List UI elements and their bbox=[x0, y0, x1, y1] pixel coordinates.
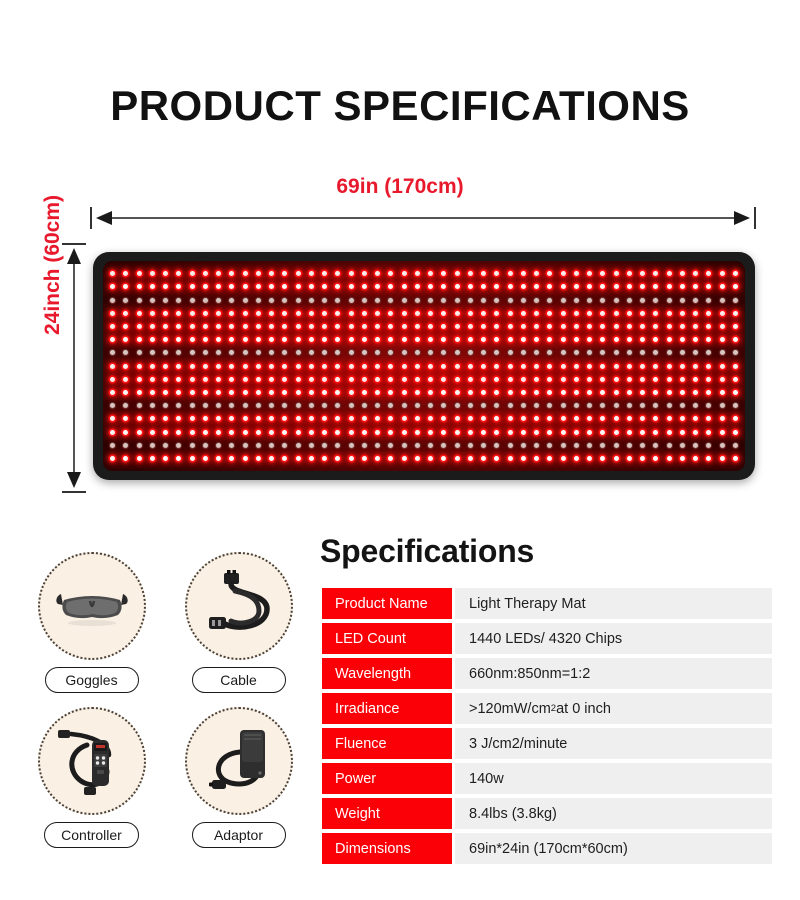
led-red-660nm bbox=[720, 430, 725, 435]
led-red-660nm bbox=[720, 324, 725, 329]
led-row bbox=[110, 373, 738, 386]
led-red-660nm bbox=[587, 337, 592, 342]
specifications-heading: Specifications bbox=[320, 533, 534, 570]
led-red-660nm bbox=[494, 337, 499, 342]
led-nir-850nm bbox=[494, 443, 499, 448]
led-red-660nm bbox=[163, 430, 168, 435]
led-nir-850nm bbox=[282, 350, 287, 355]
led-nir-850nm bbox=[335, 443, 340, 448]
led-red-660nm bbox=[322, 364, 327, 369]
led-red-660nm bbox=[587, 430, 592, 435]
specification-value: 140w bbox=[455, 763, 772, 794]
led-red-660nm bbox=[163, 284, 168, 289]
led-red-660nm bbox=[322, 284, 327, 289]
led-red-660nm bbox=[614, 456, 619, 461]
led-red-660nm bbox=[680, 324, 685, 329]
accessory-item-controller[interactable]: Controller bbox=[22, 707, 161, 848]
led-nir-850nm bbox=[667, 403, 672, 408]
led-nir-850nm bbox=[243, 350, 248, 355]
led-red-660nm bbox=[402, 311, 407, 316]
led-red-660nm bbox=[402, 364, 407, 369]
led-nir-850nm bbox=[282, 443, 287, 448]
led-red-660nm bbox=[561, 337, 566, 342]
led-red-660nm bbox=[547, 324, 552, 329]
led-red-660nm bbox=[256, 377, 261, 382]
led-red-660nm bbox=[706, 311, 711, 316]
led-red-660nm bbox=[574, 456, 579, 461]
led-nir-850nm bbox=[653, 350, 658, 355]
led-red-660nm bbox=[243, 456, 248, 461]
led-red-660nm bbox=[587, 390, 592, 395]
led-red-660nm bbox=[494, 377, 499, 382]
led-nir-850nm bbox=[706, 350, 711, 355]
led-nir-850nm bbox=[547, 443, 552, 448]
led-red-660nm bbox=[349, 430, 354, 435]
led-nir-850nm bbox=[428, 298, 433, 303]
accessory-label: Adaptor bbox=[192, 822, 286, 848]
led-red-660nm bbox=[415, 377, 420, 382]
led-red-660nm bbox=[667, 311, 672, 316]
led-red-660nm bbox=[481, 390, 486, 395]
led-nir-850nm bbox=[733, 403, 738, 408]
led-red-660nm bbox=[309, 284, 314, 289]
led-red-660nm bbox=[296, 416, 301, 421]
led-red-660nm bbox=[680, 284, 685, 289]
led-red-660nm bbox=[176, 284, 181, 289]
led-red-660nm bbox=[229, 416, 234, 421]
led-red-660nm bbox=[627, 456, 632, 461]
led-red-660nm bbox=[600, 430, 605, 435]
specification-label: Irradiance bbox=[322, 693, 452, 724]
led-nir-850nm bbox=[534, 443, 539, 448]
led-nir-850nm bbox=[640, 443, 645, 448]
led-nir-850nm bbox=[614, 403, 619, 408]
led-red-660nm bbox=[706, 324, 711, 329]
led-red-660nm bbox=[693, 284, 698, 289]
led-nir-850nm bbox=[455, 443, 460, 448]
led-red-660nm bbox=[229, 390, 234, 395]
led-red-660nm bbox=[269, 271, 274, 276]
led-red-660nm bbox=[322, 311, 327, 316]
led-nir-850nm bbox=[508, 443, 513, 448]
led-red-660nm bbox=[309, 377, 314, 382]
led-red-660nm bbox=[375, 416, 380, 421]
led-red-660nm bbox=[627, 377, 632, 382]
led-red-660nm bbox=[667, 364, 672, 369]
led-nir-850nm bbox=[547, 350, 552, 355]
led-red-660nm bbox=[534, 390, 539, 395]
led-nir-850nm bbox=[481, 350, 486, 355]
width-dimension-arrow bbox=[90, 207, 756, 229]
led-red-660nm bbox=[110, 324, 115, 329]
led-red-660nm bbox=[587, 271, 592, 276]
led-red-660nm bbox=[309, 337, 314, 342]
led-red-660nm bbox=[521, 337, 526, 342]
led-red-660nm bbox=[428, 324, 433, 329]
specification-value: >120mW/cm2 at 0 inch bbox=[455, 693, 772, 724]
led-red-660nm bbox=[243, 390, 248, 395]
led-red-660nm bbox=[508, 271, 513, 276]
led-nir-850nm bbox=[441, 350, 446, 355]
led-red-660nm bbox=[428, 377, 433, 382]
led-red-660nm bbox=[587, 364, 592, 369]
led-red-660nm bbox=[216, 416, 221, 421]
led-nir-850nm bbox=[229, 443, 234, 448]
led-nir-850nm bbox=[468, 403, 473, 408]
led-red-660nm bbox=[706, 456, 711, 461]
accessory-item-goggles[interactable]: Goggles bbox=[22, 552, 161, 693]
led-nir-850nm bbox=[190, 403, 195, 408]
led-red-660nm bbox=[720, 271, 725, 276]
led-red-660nm bbox=[137, 377, 142, 382]
led-nir-850nm bbox=[653, 298, 658, 303]
led-nir-850nm bbox=[296, 443, 301, 448]
arrow-up-icon bbox=[67, 248, 81, 264]
handheld-controller-icon bbox=[51, 723, 133, 799]
led-red-660nm bbox=[561, 416, 566, 421]
led-red-660nm bbox=[375, 430, 380, 435]
led-red-660nm bbox=[137, 271, 142, 276]
led-red-660nm bbox=[335, 416, 340, 421]
led-nir-850nm bbox=[587, 298, 592, 303]
led-nir-850nm bbox=[441, 403, 446, 408]
led-red-660nm bbox=[282, 271, 287, 276]
accessory-item-cable[interactable]: Cable bbox=[169, 552, 308, 693]
led-red-660nm bbox=[733, 311, 738, 316]
led-nir-850nm bbox=[349, 350, 354, 355]
led-red-660nm bbox=[335, 311, 340, 316]
led-nir-850nm bbox=[653, 443, 658, 448]
led-red-660nm bbox=[640, 416, 645, 421]
led-nir-850nm bbox=[176, 350, 181, 355]
led-nir-850nm bbox=[402, 403, 407, 408]
led-red-660nm bbox=[375, 456, 380, 461]
led-red-660nm bbox=[521, 390, 526, 395]
led-red-660nm bbox=[110, 271, 115, 276]
led-red-660nm bbox=[547, 430, 552, 435]
led-nir-850nm bbox=[163, 403, 168, 408]
led-nir-850nm bbox=[653, 403, 658, 408]
led-red-660nm bbox=[216, 390, 221, 395]
led-red-660nm bbox=[123, 324, 128, 329]
led-red-660nm bbox=[640, 284, 645, 289]
led-nir-850nm bbox=[203, 298, 208, 303]
led-red-660nm bbox=[269, 430, 274, 435]
led-red-660nm bbox=[733, 324, 738, 329]
led-red-660nm bbox=[176, 337, 181, 342]
led-red-660nm bbox=[203, 390, 208, 395]
led-red-660nm bbox=[203, 416, 208, 421]
led-red-660nm bbox=[521, 430, 526, 435]
led-red-660nm bbox=[693, 430, 698, 435]
led-nir-850nm bbox=[481, 443, 486, 448]
accessory-item-adaptor[interactable]: Adaptor bbox=[169, 707, 308, 848]
led-red-660nm bbox=[402, 377, 407, 382]
led-red-660nm bbox=[667, 430, 672, 435]
safety-goggles-icon bbox=[52, 583, 132, 629]
specification-value: 8.4lbs (3.8kg) bbox=[455, 798, 772, 829]
led-red-660nm bbox=[680, 377, 685, 382]
led-red-660nm bbox=[441, 311, 446, 316]
led-red-660nm bbox=[680, 390, 685, 395]
led-nir-850nm bbox=[667, 298, 672, 303]
led-red-660nm bbox=[388, 337, 393, 342]
led-nir-850nm bbox=[216, 403, 221, 408]
led-red-660nm bbox=[110, 390, 115, 395]
led-red-660nm bbox=[494, 324, 499, 329]
led-red-660nm bbox=[256, 271, 261, 276]
led-red-660nm bbox=[388, 364, 393, 369]
led-nir-850nm bbox=[282, 298, 287, 303]
led-red-660nm bbox=[733, 337, 738, 342]
led-row bbox=[110, 307, 738, 320]
led-red-660nm bbox=[455, 456, 460, 461]
led-red-660nm bbox=[110, 364, 115, 369]
led-red-660nm bbox=[481, 364, 486, 369]
led-red-660nm bbox=[574, 377, 579, 382]
led-nir-850nm bbox=[508, 350, 513, 355]
led-nir-850nm bbox=[680, 298, 685, 303]
led-red-660nm bbox=[600, 456, 605, 461]
arrow-down-icon bbox=[67, 472, 81, 488]
led-red-660nm bbox=[282, 284, 287, 289]
led-nir-850nm bbox=[428, 403, 433, 408]
led-red-660nm bbox=[150, 430, 155, 435]
led-red-660nm bbox=[335, 364, 340, 369]
led-nir-850nm bbox=[229, 403, 234, 408]
led-red-660nm bbox=[362, 324, 367, 329]
led-nir-850nm bbox=[163, 443, 168, 448]
specification-value: 660nm:850nm=1:2 bbox=[455, 658, 772, 689]
led-red-660nm bbox=[349, 311, 354, 316]
led-red-660nm bbox=[150, 284, 155, 289]
led-red-660nm bbox=[481, 324, 486, 329]
led-red-660nm bbox=[428, 364, 433, 369]
led-nir-850nm bbox=[203, 350, 208, 355]
led-red-660nm bbox=[547, 271, 552, 276]
led-red-660nm bbox=[640, 271, 645, 276]
specification-row: Fluence3 J/cm2/minute bbox=[322, 728, 772, 759]
led-red-660nm bbox=[720, 416, 725, 421]
led-red-660nm bbox=[428, 284, 433, 289]
led-red-660nm bbox=[269, 337, 274, 342]
led-red-660nm bbox=[508, 324, 513, 329]
led-red-660nm bbox=[362, 311, 367, 316]
specification-label: Product Name bbox=[322, 588, 452, 619]
led-red-660nm bbox=[521, 311, 526, 316]
led-red-660nm bbox=[123, 337, 128, 342]
led-red-660nm bbox=[123, 430, 128, 435]
led-red-660nm bbox=[110, 311, 115, 316]
led-red-660nm bbox=[415, 337, 420, 342]
led-red-660nm bbox=[614, 364, 619, 369]
led-nir-850nm bbox=[402, 298, 407, 303]
led-nir-850nm bbox=[733, 443, 738, 448]
led-red-660nm bbox=[137, 390, 142, 395]
led-nir-850nm bbox=[733, 350, 738, 355]
led-red-660nm bbox=[441, 284, 446, 289]
led-red-660nm bbox=[203, 337, 208, 342]
led-red-660nm bbox=[574, 416, 579, 421]
led-red-660nm bbox=[441, 324, 446, 329]
led-nir-850nm bbox=[123, 403, 128, 408]
led-red-660nm bbox=[349, 324, 354, 329]
specification-value: 3 J/cm2/minute bbox=[455, 728, 772, 759]
led-red-660nm bbox=[163, 377, 168, 382]
specification-row: Weight8.4lbs (3.8kg) bbox=[322, 798, 772, 829]
led-red-660nm bbox=[494, 456, 499, 461]
page-title: PRODUCT SPECIFICATIONS bbox=[0, 82, 800, 130]
led-red-660nm bbox=[176, 390, 181, 395]
led-red-660nm bbox=[243, 284, 248, 289]
led-red-660nm bbox=[203, 284, 208, 289]
led-red-660nm bbox=[653, 364, 658, 369]
led-red-660nm bbox=[256, 456, 261, 461]
led-red-660nm bbox=[653, 284, 658, 289]
led-red-660nm bbox=[508, 364, 513, 369]
led-red-660nm bbox=[190, 430, 195, 435]
led-red-660nm bbox=[282, 324, 287, 329]
led-red-660nm bbox=[269, 284, 274, 289]
led-red-660nm bbox=[322, 430, 327, 435]
led-nir-850nm bbox=[680, 350, 685, 355]
height-dimension-tick-bottom bbox=[62, 491, 86, 493]
led-nir-850nm bbox=[362, 403, 367, 408]
led-red-660nm bbox=[561, 390, 566, 395]
led-red-660nm bbox=[547, 364, 552, 369]
led-red-660nm bbox=[574, 324, 579, 329]
led-red-660nm bbox=[653, 390, 658, 395]
led-red-660nm bbox=[667, 284, 672, 289]
led-red-660nm bbox=[163, 416, 168, 421]
led-nir-850nm bbox=[137, 350, 142, 355]
led-nir-850nm bbox=[322, 350, 327, 355]
led-row bbox=[110, 399, 738, 412]
led-red-660nm bbox=[706, 271, 711, 276]
led-nir-850nm bbox=[534, 403, 539, 408]
led-nir-850nm bbox=[640, 403, 645, 408]
led-red-660nm bbox=[176, 311, 181, 316]
led-red-660nm bbox=[388, 377, 393, 382]
led-red-660nm bbox=[176, 430, 181, 435]
led-nir-850nm bbox=[587, 350, 592, 355]
led-red-660nm bbox=[693, 311, 698, 316]
led-nir-850nm bbox=[190, 443, 195, 448]
led-red-660nm bbox=[123, 311, 128, 316]
led-red-660nm bbox=[640, 377, 645, 382]
led-red-660nm bbox=[627, 324, 632, 329]
led-red-660nm bbox=[720, 311, 725, 316]
led-red-660nm bbox=[600, 377, 605, 382]
led-nir-850nm bbox=[455, 350, 460, 355]
led-red-660nm bbox=[547, 390, 552, 395]
led-red-660nm bbox=[693, 364, 698, 369]
width-dimension-label: 69in (170cm) bbox=[0, 175, 800, 199]
led-red-660nm bbox=[733, 456, 738, 461]
led-red-660nm bbox=[521, 364, 526, 369]
led-nir-850nm bbox=[547, 298, 552, 303]
led-red-660nm bbox=[110, 456, 115, 461]
specification-row: Product NameLight Therapy Mat bbox=[322, 588, 772, 619]
led-red-660nm bbox=[296, 271, 301, 276]
led-red-660nm bbox=[282, 377, 287, 382]
led-nir-850nm bbox=[375, 298, 380, 303]
led-nir-850nm bbox=[600, 403, 605, 408]
led-red-660nm bbox=[521, 377, 526, 382]
led-red-660nm bbox=[468, 456, 473, 461]
led-red-660nm bbox=[349, 390, 354, 395]
led-nir-850nm bbox=[388, 350, 393, 355]
led-nir-850nm bbox=[521, 350, 526, 355]
led-red-660nm bbox=[720, 377, 725, 382]
led-nir-850nm bbox=[494, 403, 499, 408]
led-nir-850nm bbox=[190, 350, 195, 355]
led-red-660nm bbox=[203, 311, 208, 316]
led-nir-850nm bbox=[667, 350, 672, 355]
led-red-660nm bbox=[733, 377, 738, 382]
led-nir-850nm bbox=[137, 298, 142, 303]
led-red-660nm bbox=[229, 377, 234, 382]
led-red-660nm bbox=[534, 284, 539, 289]
height-dimension-line bbox=[73, 251, 75, 485]
led-nir-850nm bbox=[706, 298, 711, 303]
led-red-660nm bbox=[269, 377, 274, 382]
led-red-660nm bbox=[693, 271, 698, 276]
led-red-660nm bbox=[282, 337, 287, 342]
led-red-660nm bbox=[216, 377, 221, 382]
led-nir-850nm bbox=[176, 443, 181, 448]
led-red-660nm bbox=[614, 284, 619, 289]
led-red-660nm bbox=[494, 311, 499, 316]
led-red-660nm bbox=[521, 416, 526, 421]
led-red-660nm bbox=[203, 430, 208, 435]
led-nir-850nm bbox=[508, 403, 513, 408]
led-nir-850nm bbox=[216, 443, 221, 448]
led-red-660nm bbox=[468, 377, 473, 382]
led-red-660nm bbox=[574, 311, 579, 316]
accessories-grid: Goggles Cable Controller bbox=[22, 552, 308, 848]
led-red-660nm bbox=[163, 364, 168, 369]
led-red-660nm bbox=[309, 271, 314, 276]
accessory-label: Controller bbox=[44, 822, 139, 848]
led-red-660nm bbox=[706, 337, 711, 342]
led-nir-850nm bbox=[110, 350, 115, 355]
specification-label: Dimensions bbox=[322, 833, 452, 864]
led-red-660nm bbox=[190, 377, 195, 382]
led-red-660nm bbox=[150, 416, 155, 421]
led-red-660nm bbox=[693, 324, 698, 329]
led-red-660nm bbox=[534, 416, 539, 421]
led-nir-850nm bbox=[693, 350, 698, 355]
led-red-660nm bbox=[693, 337, 698, 342]
led-red-660nm bbox=[627, 364, 632, 369]
led-red-660nm bbox=[693, 416, 698, 421]
led-red-660nm bbox=[455, 324, 460, 329]
led-red-660nm bbox=[322, 416, 327, 421]
led-red-660nm bbox=[110, 416, 115, 421]
led-red-660nm bbox=[402, 416, 407, 421]
led-red-660nm bbox=[614, 337, 619, 342]
led-red-660nm bbox=[706, 284, 711, 289]
width-dimension-tick-right bbox=[754, 207, 756, 229]
led-red-660nm bbox=[547, 377, 552, 382]
led-red-660nm bbox=[256, 430, 261, 435]
led-red-660nm bbox=[375, 364, 380, 369]
led-red-660nm bbox=[640, 324, 645, 329]
led-nir-850nm bbox=[574, 298, 579, 303]
led-red-660nm bbox=[653, 416, 658, 421]
led-nir-850nm bbox=[269, 350, 274, 355]
